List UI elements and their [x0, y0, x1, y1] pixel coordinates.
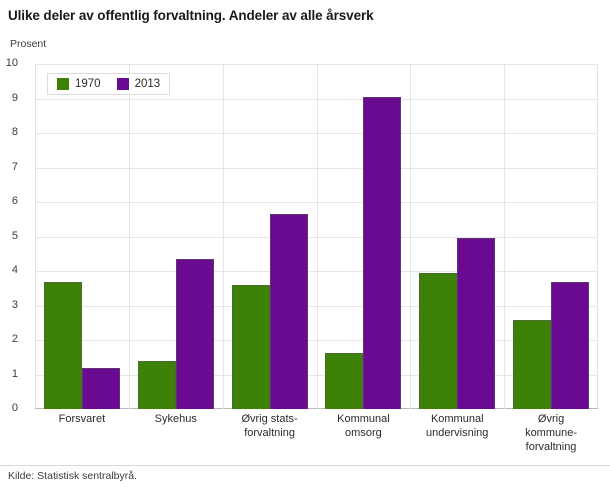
- x-axis-label: Sykehus: [129, 412, 223, 454]
- bar-groups: [35, 64, 598, 409]
- footer-divider: [0, 465, 610, 466]
- bar-1970[interactable]: [44, 282, 82, 409]
- x-axis-label: Øvrig stats- forvaltning: [223, 412, 317, 454]
- x-axis-label: Øvrig kommune- forvaltning: [504, 412, 598, 454]
- x-axis-labels: ForsvaretSykehusØvrig stats- forvaltning…: [35, 412, 598, 454]
- bar-1970[interactable]: [325, 353, 363, 409]
- y-tick-label-1: 1: [0, 368, 18, 380]
- y-tick-label-9: 9: [0, 92, 18, 104]
- bar-group: [129, 64, 223, 409]
- bar-group: [504, 64, 598, 409]
- y-tick-label-6: 6: [0, 195, 18, 207]
- legend-label-1970: 1970: [75, 78, 101, 90]
- bar-2013[interactable]: [176, 259, 214, 409]
- y-tick-label-10: 10: [0, 57, 18, 69]
- bar-group: [410, 64, 504, 409]
- legend-item-2013[interactable]: 2013: [117, 78, 161, 90]
- bar-2013[interactable]: [270, 214, 308, 409]
- bar-group: [316, 64, 410, 409]
- y-tick-label-3: 3: [0, 299, 18, 311]
- bar-2013[interactable]: [82, 368, 120, 409]
- y-tick-label-2: 2: [0, 333, 18, 345]
- chart-plot-area: 012345678910 1970 2013: [35, 64, 598, 409]
- bar-group: [35, 64, 129, 409]
- y-tick-label-0: 0: [0, 402, 18, 414]
- legend-label-2013: 2013: [135, 78, 161, 90]
- y-axis-unit-label: Prosent: [10, 38, 46, 50]
- y-tick-label-8: 8: [0, 126, 18, 138]
- x-axis-label: Kommunal undervisning: [410, 412, 504, 454]
- source-note: Kilde: Statistisk sentralbyrå.: [8, 470, 137, 482]
- bar-1970[interactable]: [513, 320, 551, 409]
- bar-1970[interactable]: [138, 361, 176, 409]
- x-axis-label: Forsvaret: [35, 412, 129, 454]
- legend-swatch-icon-1970: [57, 78, 69, 90]
- bar-1970[interactable]: [419, 273, 457, 409]
- legend: 1970 2013: [47, 73, 170, 95]
- y-tick-label-7: 7: [0, 161, 18, 173]
- y-tick-label-5: 5: [0, 230, 18, 242]
- bar-2013[interactable]: [457, 238, 495, 409]
- y-tick-label-4: 4: [0, 264, 18, 276]
- bar-1970[interactable]: [232, 285, 270, 409]
- page-title: Ulike deler av offentlig forvaltning. An…: [8, 8, 602, 24]
- bar-2013[interactable]: [551, 282, 589, 409]
- bar-group: [223, 64, 317, 409]
- legend-item-1970[interactable]: 1970: [57, 78, 101, 90]
- legend-swatch-icon-2013: [117, 78, 129, 90]
- x-axis-label: Kommunal omsorg: [316, 412, 410, 454]
- bar-2013[interactable]: [363, 97, 401, 409]
